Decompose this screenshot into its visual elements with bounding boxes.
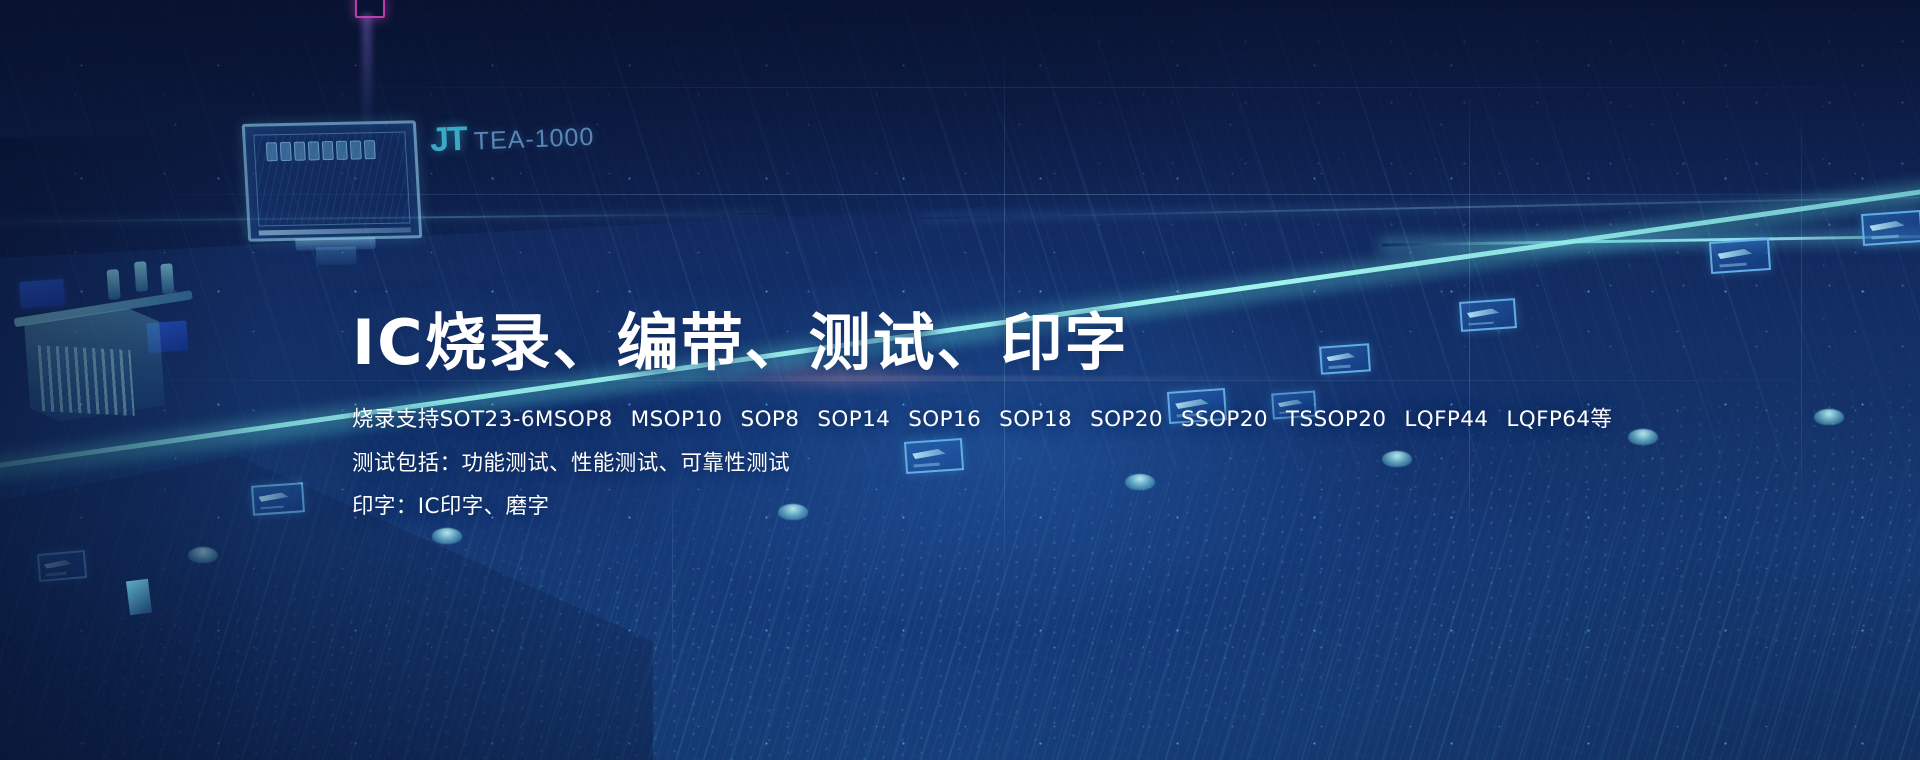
rail-post [1628, 429, 1658, 445]
overhead-marker-icon [355, 0, 385, 18]
monitor-status-bar [259, 227, 411, 235]
subtitle-line-burn: 烧录支持SOT23-6MSOP8MSOP10SOP8SOP14SOP16SOP1… [352, 409, 1592, 431]
package-item: SOP16 [908, 409, 981, 431]
subtitle-line-print: 印字：IC印字、磨字 [352, 496, 1592, 518]
vertical-guide-line [1801, 91, 1802, 532]
monitor-chip-row [266, 140, 376, 161]
banner-subtitles: 烧录支持SOT23-6MSOP8MSOP10SOP8SOP14SOP16SOP1… [352, 409, 1592, 518]
ic-service-banner: JT TEA-1000 IC烧录、编带、测试、印字 烧录支持SOT23-6MSO… [0, 0, 1920, 760]
chip-panel [1709, 238, 1771, 274]
jt-logo-mark: JT [429, 120, 466, 160]
package-item: SOP14 [817, 409, 890, 431]
equipment-logo: JT TEA-1000 [429, 115, 595, 160]
package-item: SSOP20 [1181, 409, 1268, 431]
subtitle-line-test: 测试包括：功能测试、性能测试、可靠性测试 [352, 453, 1592, 475]
package-item: TSSOP20 [1286, 409, 1386, 431]
package-list: MSOP8MSOP10SOP8SOP14SOP16SOP18SOP20SSOP2… [535, 407, 1612, 432]
overhead-light-beam [362, 14, 372, 164]
package-item: SOP18 [999, 409, 1072, 431]
package-item: LQFP44 [1404, 409, 1488, 431]
equipment-model-label: TEA-1000 [473, 123, 595, 157]
monitor-stand [316, 246, 357, 265]
rail-post [1814, 409, 1844, 425]
banner-title: IC烧录、编带、测试、印字 [352, 310, 1592, 375]
package-item: SOP8 [741, 409, 800, 431]
chip-panel [1861, 210, 1920, 246]
burn-support-prefix: 烧录支持SOT23-6 [352, 407, 535, 432]
package-item: MSOP10 [631, 409, 723, 431]
package-item: SOP20 [1090, 409, 1163, 431]
floor-highlight-chip [126, 579, 152, 615]
banner-content: IC烧录、编带、测试、印字 烧录支持SOT23-6MSOP8MSOP10SOP8… [352, 310, 1592, 518]
package-item: LQFP64等 [1506, 409, 1612, 431]
rail-post [432, 528, 462, 544]
wall-line [269, 87, 1920, 88]
package-item: MSOP8 [535, 409, 613, 431]
